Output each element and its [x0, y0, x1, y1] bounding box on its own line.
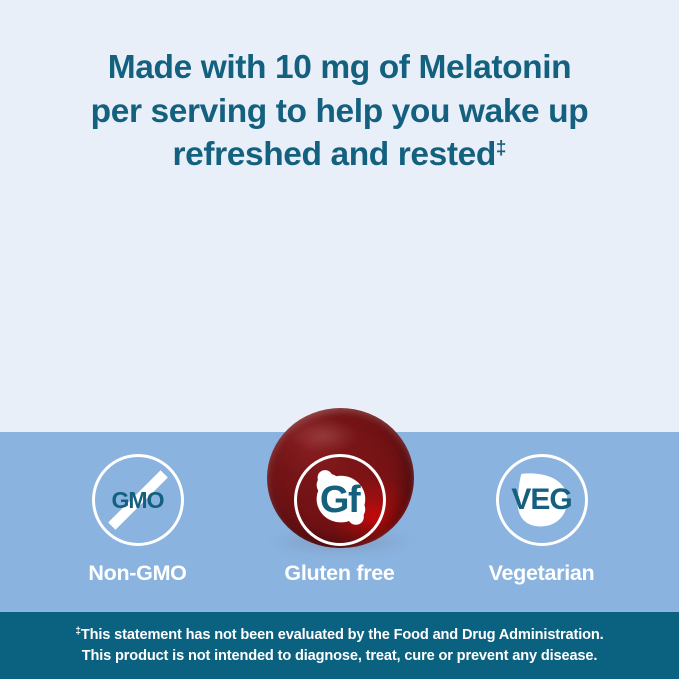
product-info-panel: Made with 10 mg of Melatonin per serving… — [0, 0, 679, 679]
legal-disclaimer-bar: ‡This statement has not been evaluated b… — [0, 612, 679, 679]
disclaimer-line-2: This product is not intended to diagnose… — [82, 648, 598, 664]
badge-mark-text: GMO — [112, 487, 164, 514]
headline-line-2: per serving to help you wake up — [91, 93, 589, 130]
gummy-glint-highlight — [290, 420, 358, 451]
disclaimer-text: ‡This statement has not been evaluated b… — [75, 625, 603, 666]
badge-mark-text: VEG — [511, 483, 571, 517]
badge-label-non-gmo: Non-GMO — [88, 561, 186, 586]
hero-section: Made with 10 mg of Melatonin per serving… — [0, 0, 679, 432]
no-gmo-icon: GMO — [92, 454, 184, 546]
badge-vegetarian: VEG Vegetarian — [462, 454, 622, 586]
badge-non-gmo: GMO Non-GMO — [58, 454, 218, 586]
badge-label-gluten-free: Gluten free — [284, 561, 394, 586]
attribute-badge-band: GMO Non-GMO Gf Gluten free — [0, 432, 679, 612]
badge-label-vegetarian: Vegetarian — [489, 561, 595, 586]
vegetarian-leaf-icon: VEG — [496, 454, 588, 546]
disclaimer-line-1: This statement has not been evaluated by… — [81, 627, 604, 643]
page-title: Made with 10 mg of Melatonin per serving… — [35, 0, 645, 177]
headline-line-3: refreshed and rested — [173, 136, 496, 173]
product-image-area — [0, 177, 679, 432]
headline-line-1: Made with 10 mg of Melatonin — [108, 49, 571, 86]
headline-footnote-marker: ‡ — [496, 138, 507, 159]
badge-mark-text: Gf — [320, 479, 359, 522]
gluten-free-icon: Gf — [294, 454, 386, 546]
